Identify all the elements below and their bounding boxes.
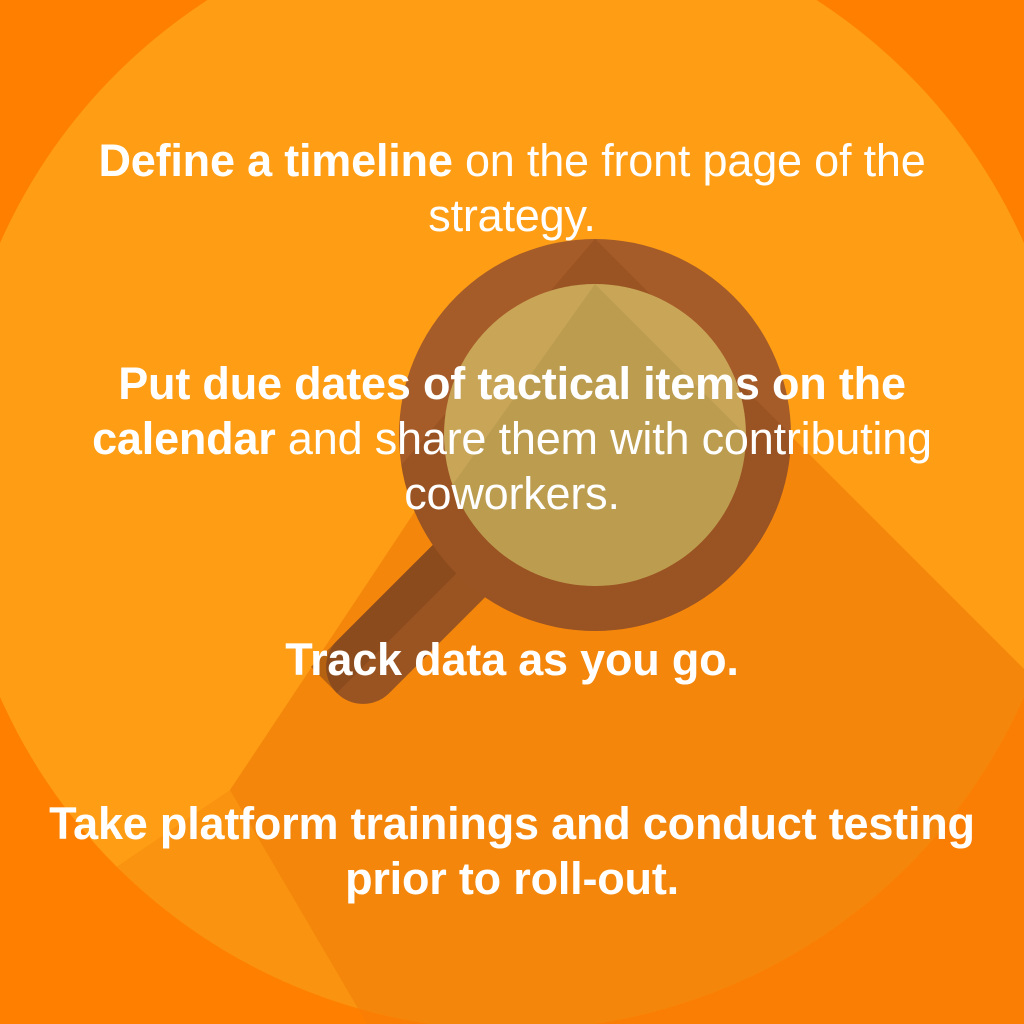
poster-graphic: Define a timeline on the front page of t…	[0, 0, 1024, 1024]
magnifying-glass-illustration	[0, 0, 1024, 1024]
